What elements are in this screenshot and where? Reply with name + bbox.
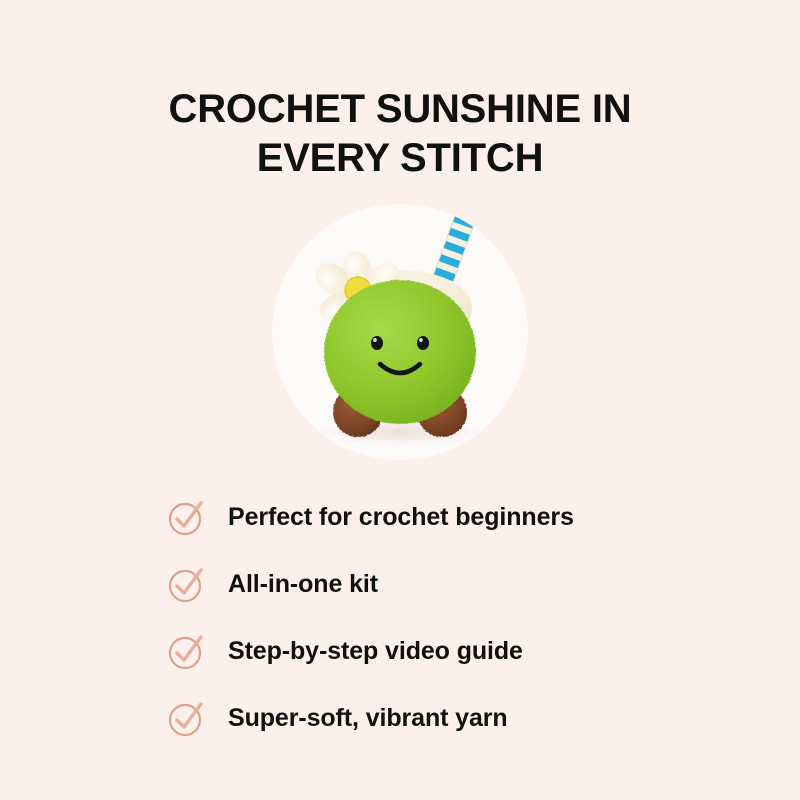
check-circle-icon [166,699,206,739]
list-item-label: All-in-one kit [228,572,378,597]
product-image-circle [272,204,528,460]
list-item-label: Super-soft, vibrant yarn [228,706,508,731]
list-item: Super-soft, vibrant yarn [166,685,726,752]
list-item: All-in-one kit [166,551,726,618]
list-item: Step-by-step video guide [166,618,726,685]
crochet-coconut-drink-plush-illustration [272,204,528,460]
check-circle-icon [166,565,206,605]
list-item-label: Perfect for crochet beginners [228,505,574,530]
list-item: Perfect for crochet beginners [166,484,726,551]
check-circle-icon [166,632,206,672]
page-title: CROCHET SUNSHINE IN EVERY STITCH [60,85,740,183]
list-item-label: Step-by-step video guide [228,639,523,664]
check-circle-icon [166,498,206,538]
feature-list: Perfect for crochet beginners All-in-one… [166,484,726,752]
product-feature-page: CROCHET SUNSHINE IN EVERY STITCH [0,0,800,800]
